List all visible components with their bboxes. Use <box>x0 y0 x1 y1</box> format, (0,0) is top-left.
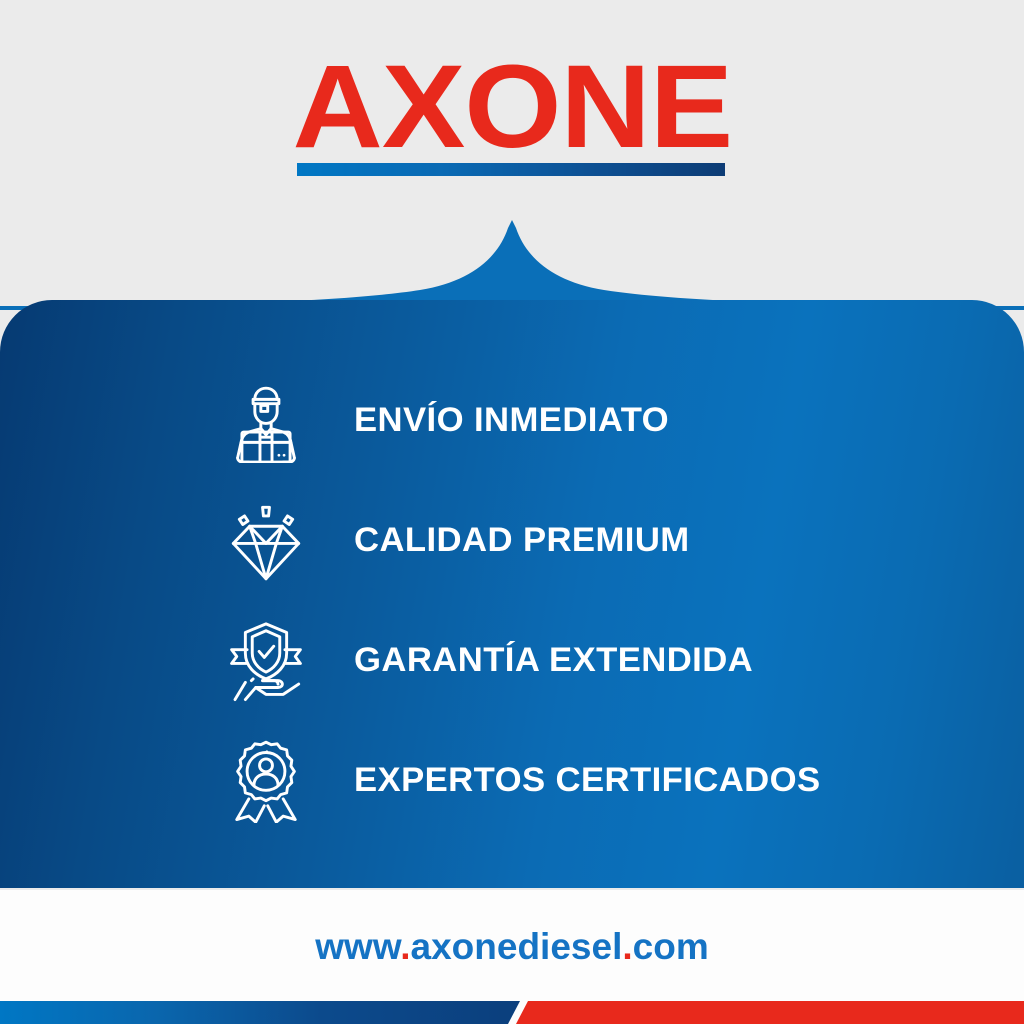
url-prefix: www <box>315 926 400 967</box>
feature-item-expertos-certificados[interactable]: EXPERTOS CERTIFICADOS <box>0 720 1024 840</box>
url-dot-2: . <box>622 926 632 967</box>
feature-label: GARANTÍA EXTENDIDA <box>354 641 753 680</box>
feature-label: CALIDAD PREMIUM <box>354 521 690 560</box>
brand-logo: AXONE <box>0 48 1024 166</box>
feature-label: EXPERTOS CERTIFICADOS <box>354 761 821 800</box>
brand-underline-bar <box>297 163 725 176</box>
footer-section: www.axonediesel.com <box>0 890 1024 1024</box>
shield-check-hand-icon <box>222 616 310 704</box>
feature-item-garantia-extendida[interactable]: GARANTÍA EXTENDIDA <box>0 600 1024 720</box>
url-domain: axonediesel <box>411 926 623 967</box>
award-badge-person-icon <box>222 736 310 824</box>
speech-bubble-pointer-icon <box>0 220 1024 310</box>
features-panel-wrapper: ENVÍO INMEDIATO CALIDAD P <box>0 220 1024 890</box>
url-dot-1: . <box>400 926 410 967</box>
feature-item-calidad-premium[interactable]: CALIDAD PREMIUM <box>0 480 1024 600</box>
feature-item-envio-inmediato[interactable]: ENVÍO INMEDIATO <box>0 360 1024 480</box>
feature-label: ENVÍO INMEDIATO <box>354 401 669 440</box>
bottom-accent-stripe <box>0 984 1024 1024</box>
brand-wordmark: AXONE <box>292 48 732 166</box>
feature-list: ENVÍO INMEDIATO CALIDAD P <box>0 360 1024 840</box>
url-tld: com <box>633 926 709 967</box>
diamond-gem-icon <box>222 496 310 584</box>
delivery-person-box-icon <box>222 376 310 464</box>
website-url[interactable]: www.axonediesel.com <box>0 926 1024 968</box>
